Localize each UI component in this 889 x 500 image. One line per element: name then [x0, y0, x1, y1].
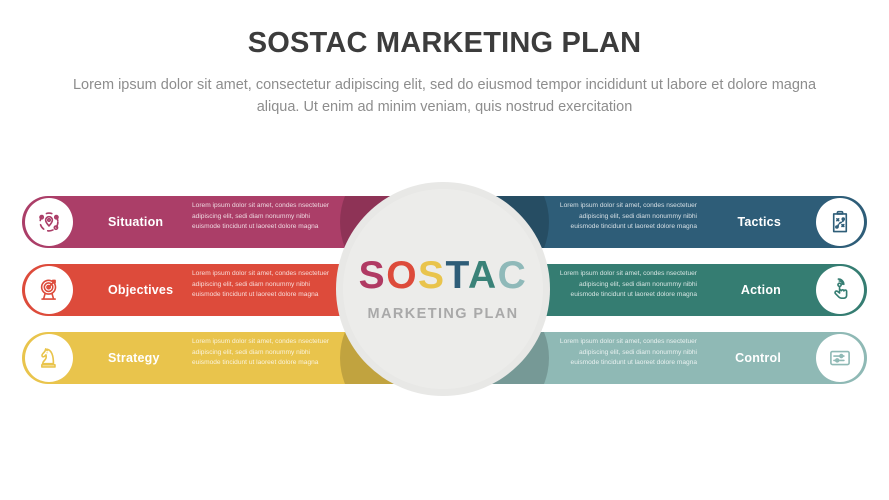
sostac-logo-word: SOSTAC — [359, 256, 528, 295]
stage-description-control: Lorem ipsum dolor sit amet, condes nsect… — [555, 337, 697, 369]
stage-label-strategy: Strategy — [108, 332, 160, 384]
sostac-diagram: SituationLorem ipsum dolor sit amet, con… — [0, 0, 889, 500]
sostac-letter-4: T — [446, 254, 468, 297]
sostac-letter-1: S — [359, 254, 387, 297]
chess-knight-icon — [25, 334, 73, 382]
target-dartboard-icon — [25, 266, 73, 314]
location-pin-network-icon — [25, 198, 73, 246]
sostac-letter-2: O — [386, 254, 418, 297]
sostac-logo-subtitle: MARKETING PLAN — [368, 306, 519, 322]
center-logo-circle: SOSTAC MARKETING PLAN — [336, 182, 550, 396]
stage-description-action: Lorem ipsum dolor sit amet, condes nsect… — [555, 269, 697, 301]
stage-description-tactics: Lorem ipsum dolor sit amet, condes nsect… — [555, 201, 697, 233]
stage-description-strategy: Lorem ipsum dolor sit amet, condes nsect… — [192, 337, 334, 369]
sliders-settings-icon — [816, 334, 864, 382]
sostac-letter-6: C — [498, 254, 528, 297]
sostac-letter-3: S — [418, 254, 446, 297]
stage-label-control: Control — [735, 332, 781, 384]
stage-description-situation: Lorem ipsum dolor sit amet, condes nsect… — [192, 201, 334, 233]
stage-label-situation: Situation — [108, 196, 163, 248]
hand-tap-icon — [816, 266, 864, 314]
stage-label-tactics: Tactics — [737, 196, 781, 248]
sostac-letter-5: A — [468, 254, 498, 297]
stage-label-action: Action — [741, 264, 781, 316]
clipboard-playbook-icon — [816, 198, 864, 246]
stage-label-objectives: Objectives — [108, 264, 173, 316]
stage-description-objectives: Lorem ipsum dolor sit amet, condes nsect… — [192, 269, 334, 301]
